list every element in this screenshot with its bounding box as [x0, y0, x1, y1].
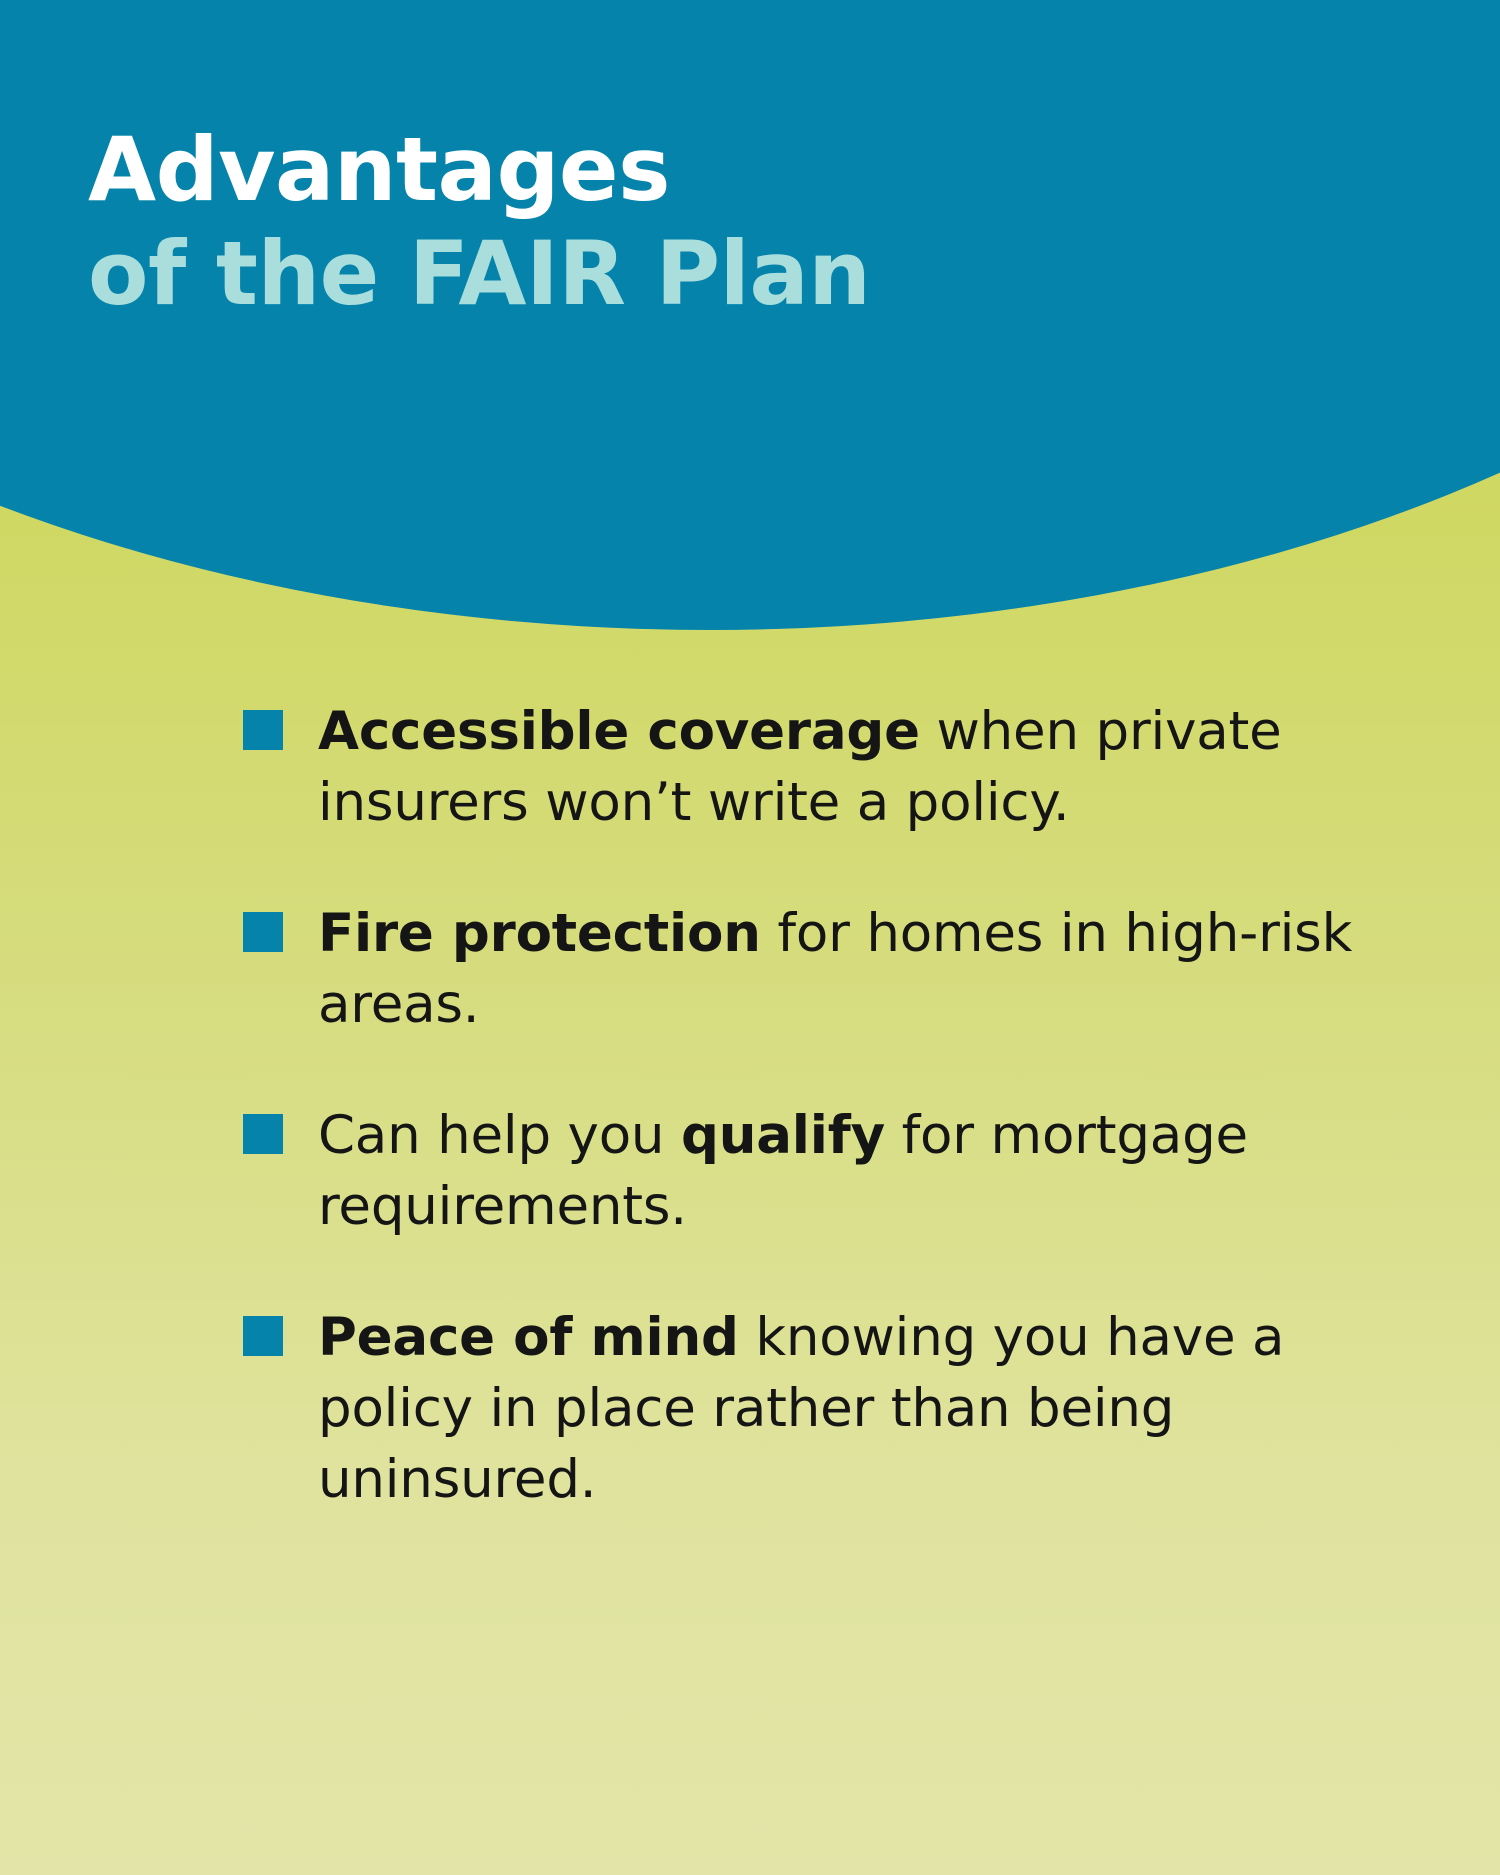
page-title-line-2: of the FAIR Plan [88, 222, 1500, 326]
advantage-lead: qualify [681, 1105, 885, 1166]
filled-square-bullet-icon [243, 710, 283, 750]
advantage-lead: Peace of mind [318, 1307, 739, 1368]
poster-canvas: Advantages of the FAIR Plan Accessible c… [0, 0, 1500, 1875]
list-item: Can help you qualify for mortgage requir… [243, 1100, 1363, 1242]
advantage-text: Accessible coverage when private insurer… [318, 696, 1363, 838]
poster-header: Advantages of the FAIR Plan [0, 0, 1500, 326]
advantage-text: Peace of mind knowing you have a policy … [318, 1302, 1363, 1515]
filled-square-bullet-icon [243, 1114, 283, 1154]
advantage-text: Can help you qualify for mortgage requir… [318, 1100, 1363, 1242]
advantage-lead-before: Can help you [318, 1105, 681, 1166]
advantages-list: Accessible coverage when private insurer… [243, 696, 1363, 1515]
advantage-text: Fire protection for homes in high-risk a… [318, 898, 1363, 1040]
advantage-lead: Accessible coverage [318, 701, 920, 762]
filled-square-bullet-icon [243, 1316, 283, 1356]
list-item: Accessible coverage when private insurer… [243, 696, 1363, 838]
advantage-lead: Fire protection [318, 903, 761, 964]
list-item: Peace of mind knowing you have a policy … [243, 1302, 1363, 1515]
list-item: Fire protection for homes in high-risk a… [243, 898, 1363, 1040]
filled-square-bullet-icon [243, 912, 283, 952]
page-title-line-1: Advantages [88, 118, 1500, 222]
